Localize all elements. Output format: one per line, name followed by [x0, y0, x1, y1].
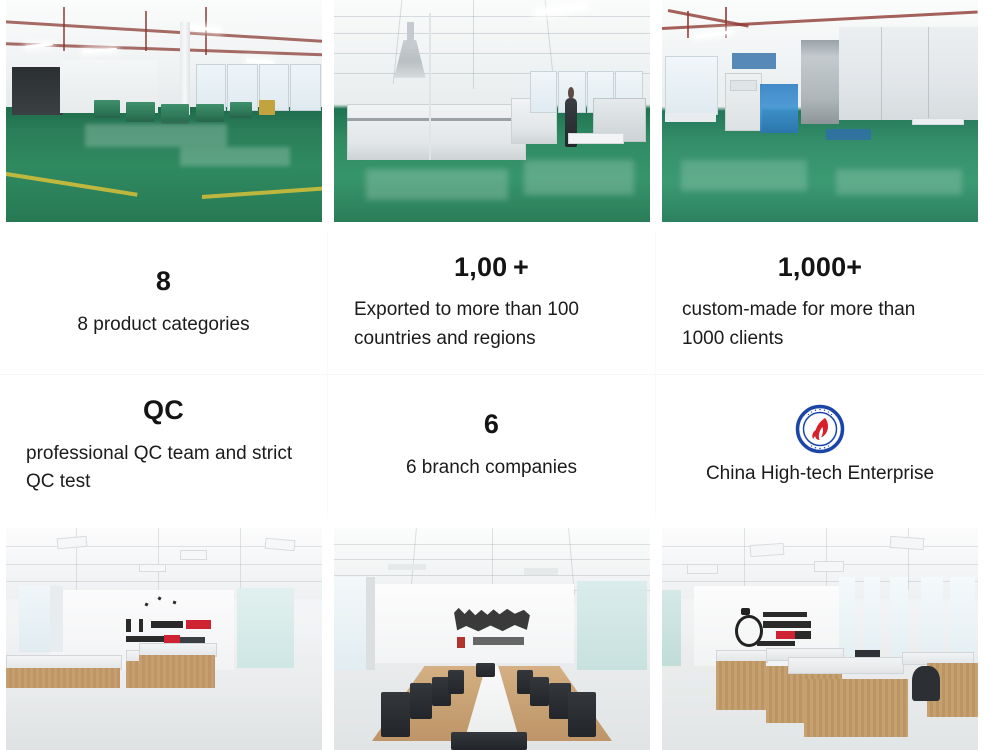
ceiling-grid-line	[826, 528, 827, 590]
window	[665, 56, 718, 116]
stat-cell-high-tech-enterprise: China High-tech Enterprise	[656, 375, 984, 518]
company-profile-page: 8 8 product categories 1,00 + Exported t…	[0, 0, 984, 750]
conference-chair	[381, 692, 409, 736]
conference-chair	[476, 663, 495, 676]
side-table	[912, 118, 965, 126]
ceiling-grid-line	[334, 53, 650, 54]
office-floor	[6, 688, 322, 750]
stat-description: custom-made for more than 1000 clients	[682, 296, 958, 353]
ceiling-grid-line	[744, 528, 745, 590]
vertical-post	[429, 13, 431, 160]
pipe-drop	[687, 11, 689, 38]
ceiling-grid-line	[334, 33, 650, 34]
desk-glass-top	[788, 657, 904, 675]
stat-description: China High-tech Enterprise	[706, 460, 934, 489]
floor-reflection	[366, 169, 508, 200]
machine	[161, 104, 189, 124]
wall-text-black	[763, 612, 807, 616]
curtain	[366, 577, 375, 670]
weighing-pad	[826, 129, 870, 140]
photo-factory-production-floor	[6, 0, 322, 222]
floor-reflection	[524, 160, 635, 196]
wall-text-red	[776, 631, 795, 639]
ceiling-lamp	[687, 564, 717, 575]
stat-value: QC	[143, 396, 184, 426]
stat-cell-qc-team: QC professional QC team and strict QC te…	[0, 375, 328, 518]
photo-tunnel-oven-workshop	[334, 0, 650, 222]
wall-calligraphy-subtitle	[473, 637, 524, 645]
ceiling-lamp	[180, 550, 207, 560]
floor-reflection	[85, 124, 227, 146]
window	[334, 577, 366, 670]
stat-description: 6 branch companies	[406, 454, 577, 483]
tunnel-oven-edge	[347, 118, 524, 121]
floor-reflection	[681, 160, 807, 191]
dark-doorway	[12, 67, 63, 116]
machine	[196, 104, 224, 122]
tunnel-oven-body	[347, 104, 526, 159]
blue-test-chamber	[760, 84, 798, 133]
window	[530, 71, 557, 113]
floor-lane-marking	[202, 186, 322, 199]
stat-description: 8 product categories	[77, 311, 249, 340]
pipe-drop	[145, 11, 147, 51]
glass-partition	[577, 581, 647, 670]
bottom-photo-row	[0, 528, 984, 750]
wall-seal-stamp	[457, 637, 465, 648]
stat-value: 1,000+	[778, 253, 863, 283]
glass-partition	[662, 590, 681, 665]
floor-lane-marking	[6, 171, 137, 197]
floor-reflection	[180, 147, 291, 167]
wall-text-black	[757, 641, 795, 645]
top-photo-row	[0, 0, 984, 222]
company-stats-band: 8 8 product categories 1,00 + Exported t…	[0, 232, 984, 518]
glass-partition	[237, 588, 294, 668]
wall-text-red	[186, 620, 211, 629]
stat-cell-custom-made-clients: 1,000+ custom-made for more than 1000 cl…	[656, 232, 984, 375]
stat-value: 1,00 +	[454, 253, 529, 283]
pipe-drop	[205, 7, 207, 56]
air-vent	[388, 564, 426, 571]
photo-office-workstations	[6, 528, 322, 750]
stat-description: Exported to more than 100 countries and …	[354, 296, 629, 353]
desk-monitor	[180, 637, 205, 644]
stat-cell-branch-companies: 6 6 branch companies	[328, 375, 656, 518]
radiator	[665, 113, 716, 122]
support-column	[180, 22, 190, 115]
desk-wood-panel	[804, 679, 908, 737]
stopwatch-crown	[741, 608, 750, 615]
stat-cell-product-categories: 8 8 product categories	[0, 232, 328, 375]
stat-description: professional QC team and strict QC test	[26, 440, 301, 497]
machine	[230, 102, 252, 118]
test-machine-column	[801, 40, 839, 124]
wall-text-black	[795, 631, 811, 639]
machine-yellow	[259, 100, 275, 116]
floor-reflection	[836, 169, 962, 196]
hood-duct	[407, 22, 415, 49]
desk-monitor	[855, 650, 880, 657]
display-unit	[732, 53, 776, 69]
desk-wood-panel	[716, 661, 767, 710]
wall-text-black	[126, 636, 164, 643]
ceiling-grid-line	[662, 546, 978, 547]
panel-wall	[839, 27, 978, 120]
logo-wrap	[795, 404, 845, 454]
ceiling-lamp	[889, 536, 923, 550]
stat-value: 8	[156, 267, 171, 297]
conference-chair	[448, 670, 464, 694]
ceiling-lamp	[139, 564, 166, 573]
wall-graphic-mark	[126, 619, 131, 632]
wall-text-black	[763, 621, 810, 628]
window	[290, 64, 320, 110]
conference-chair	[410, 683, 432, 719]
wall-text-black	[151, 621, 183, 628]
stats-grid: 8 8 product categories 1,00 + Exported t…	[0, 232, 984, 518]
ceiling-grid-line	[473, 0, 474, 89]
window	[19, 586, 51, 653]
cabinet-panel	[730, 80, 757, 91]
ceiling-grid-line	[6, 581, 322, 582]
work-table	[568, 133, 624, 144]
pipe-drop	[63, 7, 65, 51]
curtain	[50, 586, 63, 653]
photo-conference-room	[334, 528, 650, 750]
stat-value: 6	[484, 410, 499, 440]
machine	[126, 102, 154, 122]
stat-cell-exported-countries: 1,00 + Exported to more than 100 countri…	[328, 232, 656, 375]
china-high-tech-enterprise-logo	[795, 404, 845, 454]
conference-chair	[530, 677, 549, 706]
machine	[94, 100, 119, 118]
wall-text-red	[164, 635, 180, 644]
ceiling-lamp	[750, 542, 784, 556]
ceiling-grid-line	[158, 528, 159, 590]
photo-testing-equipment-room	[662, 0, 978, 222]
conference-chair-foreground	[451, 732, 527, 750]
ceiling-grid-line	[240, 528, 241, 590]
wall-graphic-mark	[139, 619, 144, 632]
ceiling-lamp	[814, 561, 844, 572]
photo-reception-office-area	[662, 528, 978, 750]
office-chair	[912, 666, 940, 702]
conference-chair	[568, 692, 596, 736]
air-vent	[524, 568, 559, 575]
ceiling-grid-line	[334, 16, 650, 17]
